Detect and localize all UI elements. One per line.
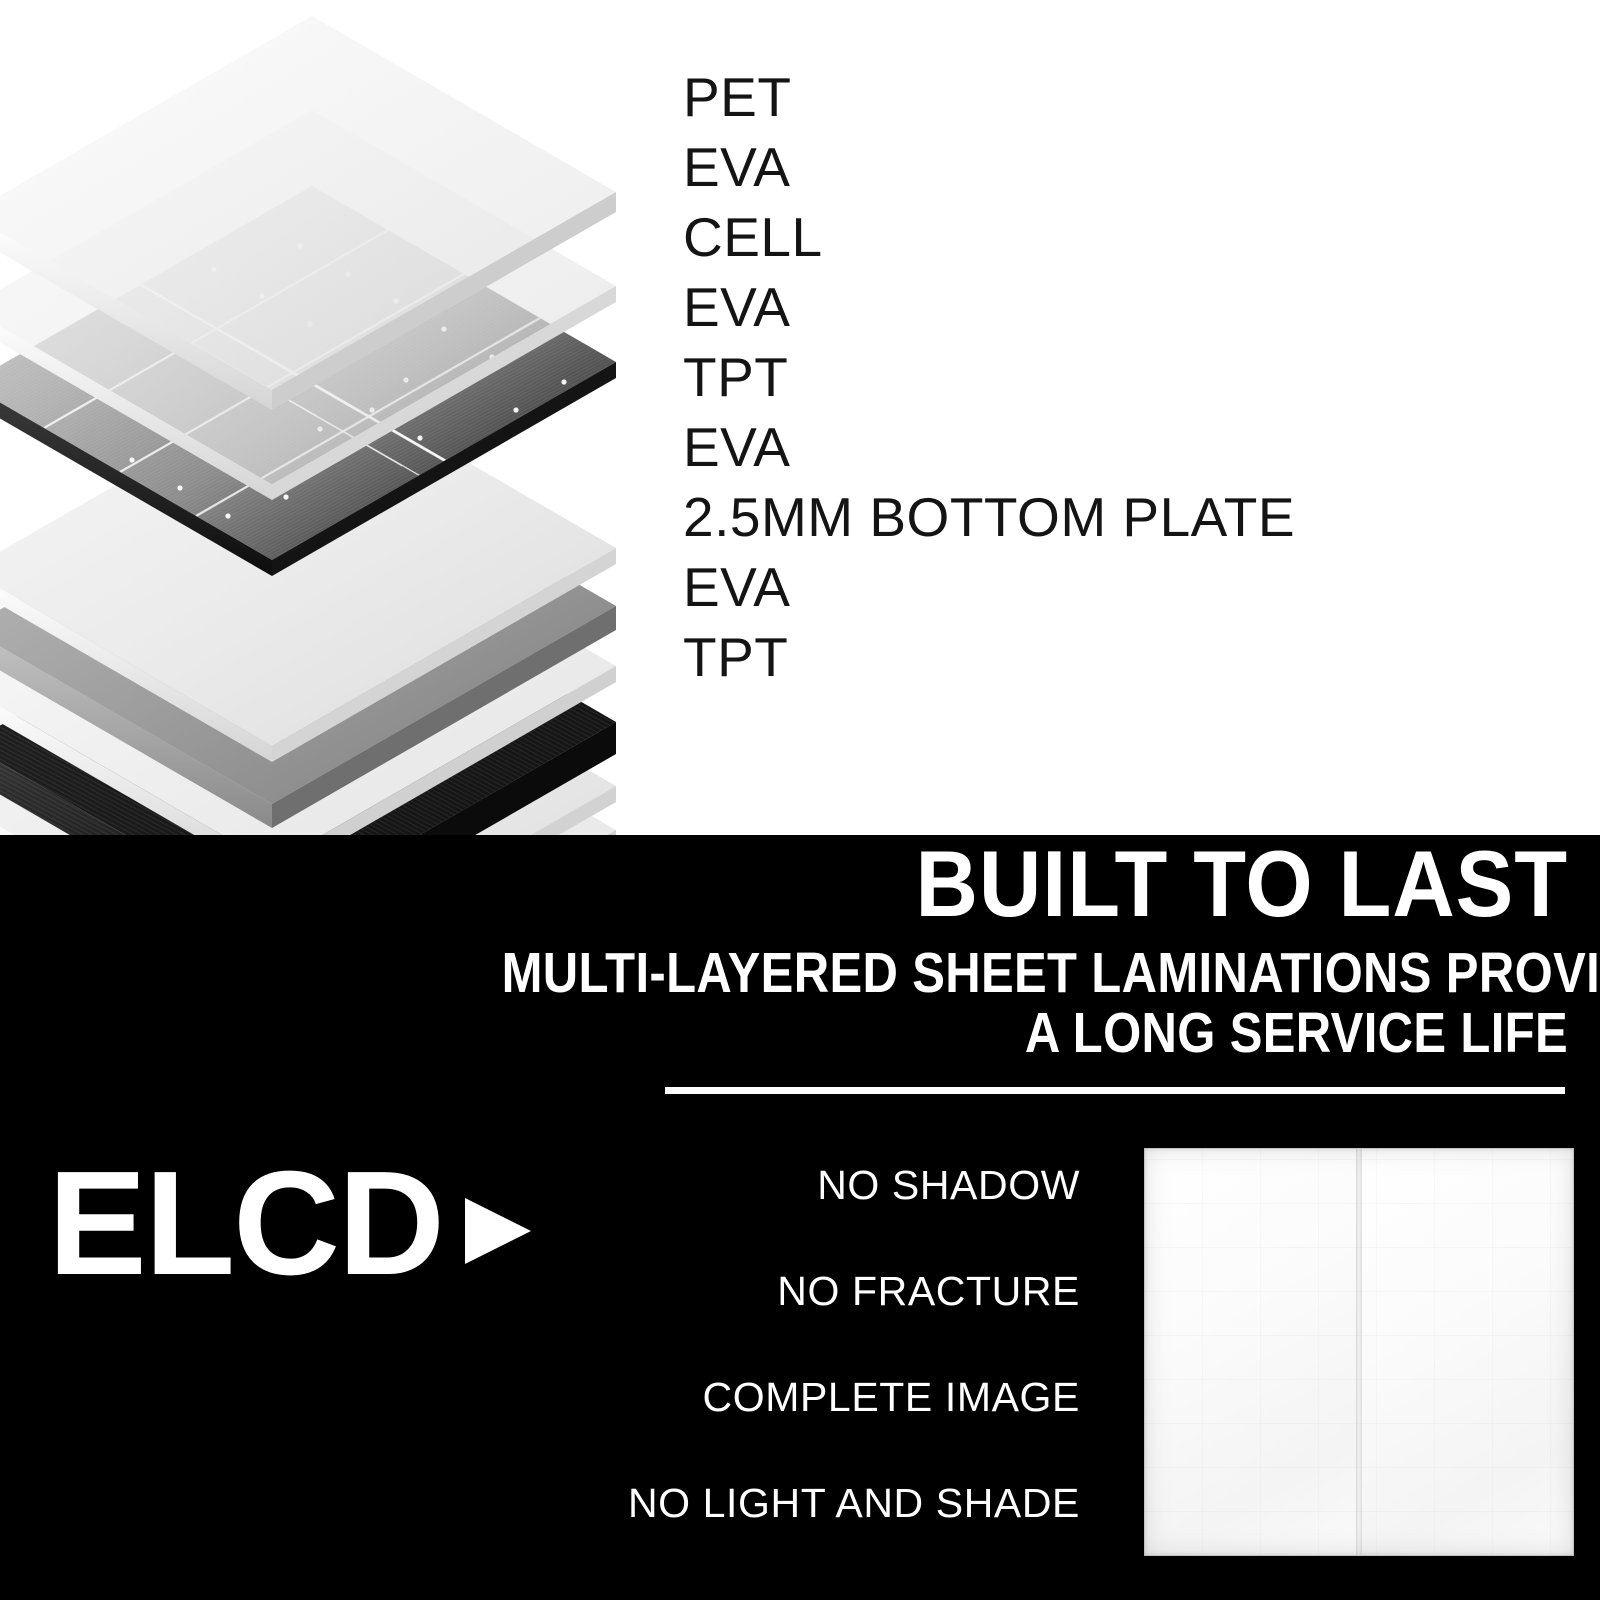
feature-list: NO SHADOW NO FRACTURE COMPLETE IMAGE NO … <box>480 1165 1080 1524</box>
feature-item: COMPLETE IMAGE <box>480 1377 1080 1418</box>
subheadline: MULTI-LAYERED SHEET LAMINATIONS PROVIDE … <box>328 943 1568 1063</box>
layer-diagram-section: PET EVA CELL EVA TPT EVA 2.5MM BOTTOM PL… <box>0 0 1600 835</box>
infographic-root: PET EVA CELL EVA TPT EVA 2.5MM BOTTOM PL… <box>0 0 1600 1600</box>
layer-label: TPT <box>683 622 1563 692</box>
layer-label: CELL <box>683 202 1563 272</box>
subheadline-line-1: MULTI-LAYERED SHEET LAMINATIONS PROVIDE <box>502 943 1568 1003</box>
layer-label: EVA <box>683 272 1563 342</box>
brand-logo-wordmark: ELCD <box>48 1150 443 1298</box>
el-test-panel-image <box>1144 1148 1574 1556</box>
feature-item: NO SHADOW <box>480 1165 1080 1206</box>
layer-label: EVA <box>683 552 1563 622</box>
layer-label: EVA <box>683 412 1563 482</box>
headline-built-to-last: BUILT TO LAST <box>427 837 1568 931</box>
exploded-layer-stack-illustration <box>0 0 660 835</box>
subheadline-line-2: A LONG SERVICE LIFE <box>502 1003 1568 1063</box>
feature-item: NO FRACTURE <box>480 1271 1080 1312</box>
horizontal-divider <box>665 1087 1565 1094</box>
brand-logo: ELCD <box>48 1150 531 1298</box>
layer-label: PET <box>683 62 1563 132</box>
feature-item: NO LIGHT AND SHADE <box>480 1483 1080 1524</box>
layer-label: EVA <box>683 132 1563 202</box>
layer-label-list: PET EVA CELL EVA TPT EVA 2.5MM BOTTOM PL… <box>683 62 1563 692</box>
layer-label: 2.5MM BOTTOM PLATE <box>683 482 1563 552</box>
headline-block: BUILT TO LAST MULTI-LAYERED SHEET LAMINA… <box>328 837 1568 1063</box>
el-panel-vignette <box>1144 1148 1574 1556</box>
layer-label: TPT <box>683 342 1563 412</box>
